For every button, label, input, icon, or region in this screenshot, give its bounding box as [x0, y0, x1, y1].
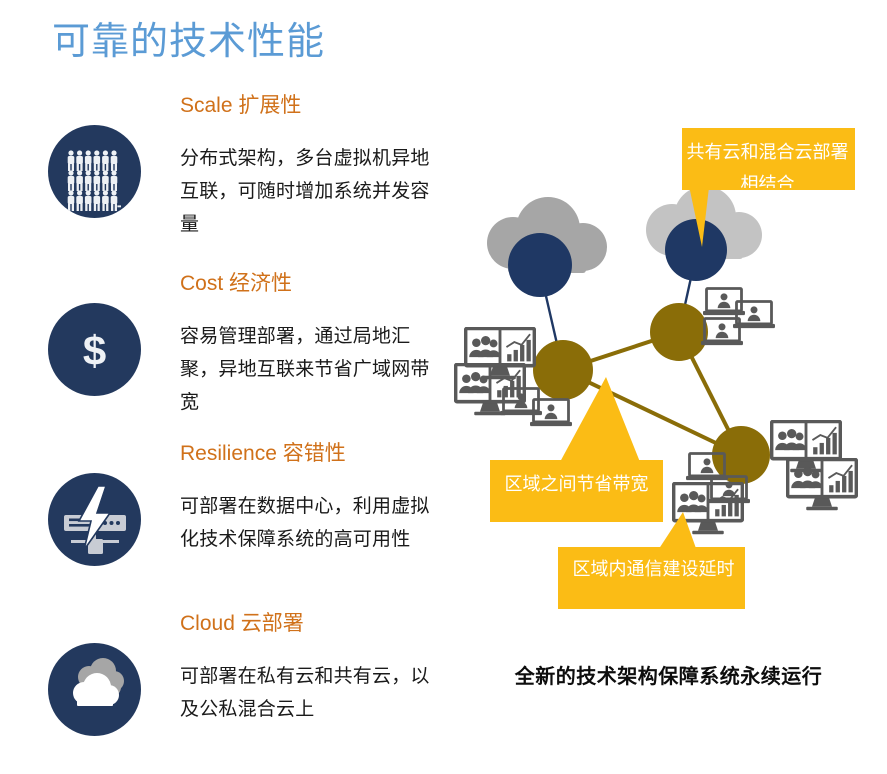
cloud-node-right	[665, 219, 727, 281]
feature-icon-cloud-wrap	[48, 643, 141, 736]
dollar-sign-icon: $	[48, 303, 141, 396]
cloud-icon	[48, 643, 141, 736]
slide-root: 可靠的技术性能	[0, 0, 887, 774]
device-cluster-upper-right	[701, 289, 775, 346]
feature-heading: Scale 扩展性	[180, 92, 440, 120]
region-node-mid	[650, 303, 708, 361]
callout-inter-region-bandwidth	[490, 377, 663, 522]
device-cluster-lower-right	[674, 421, 857, 534]
callout-intra-region-latency	[558, 512, 745, 609]
feature-text-resilience: Resilience 容错性 可部署在数据中心，利用虚拟化技术保障系统的高可用性	[180, 440, 440, 556]
page-title: 可靠的技术性能	[52, 18, 325, 66]
feature-icon-resilience-wrap	[48, 473, 141, 566]
server-lightning-icon	[48, 473, 141, 566]
feature-text-cost: Cost 经济性 容易管理部署，通过局地汇聚，异地互联来节省广域网带宽	[180, 270, 440, 419]
region-node-left	[533, 340, 593, 400]
feature-text-scale: Scale 扩展性 分布式架构，多台虚拟机异地互联，可随时增加系统并发容量	[180, 92, 440, 241]
diagram-caption: 全新的技术架构保障系统永续运行	[450, 660, 887, 689]
people-crowd-icon	[48, 125, 141, 218]
feature-heading: Cloud 云部署	[180, 610, 440, 638]
feature-heading: Resilience 容错性	[180, 440, 440, 468]
network-diagram	[450, 95, 887, 655]
feature-body: 可部署在私有云和共有云，以及公私混合云上	[180, 660, 440, 726]
cloud-node-left	[508, 233, 572, 297]
feature-icon-scale-wrap	[48, 125, 141, 218]
feature-heading: Cost 经济性	[180, 270, 440, 298]
svg-text:$: $	[83, 327, 106, 374]
feature-text-cloud: Cloud 云部署 可部署在私有云和共有云，以及公私混合云上	[180, 610, 440, 726]
feature-body: 容易管理部署，通过局地汇聚，异地互联来节省广域网带宽	[180, 320, 440, 419]
feature-body: 可部署在数据中心，利用虚拟化技术保障系统的高可用性	[180, 490, 440, 556]
feature-icon-cost-wrap: $	[48, 303, 141, 396]
feature-body: 分布式架构，多台虚拟机异地互联，可随时增加系统并发容量	[180, 142, 440, 241]
feature-list: Scale 扩展性 分布式架构，多台虚拟机异地互联，可随时增加系统并发容量 $ …	[0, 92, 450, 774]
